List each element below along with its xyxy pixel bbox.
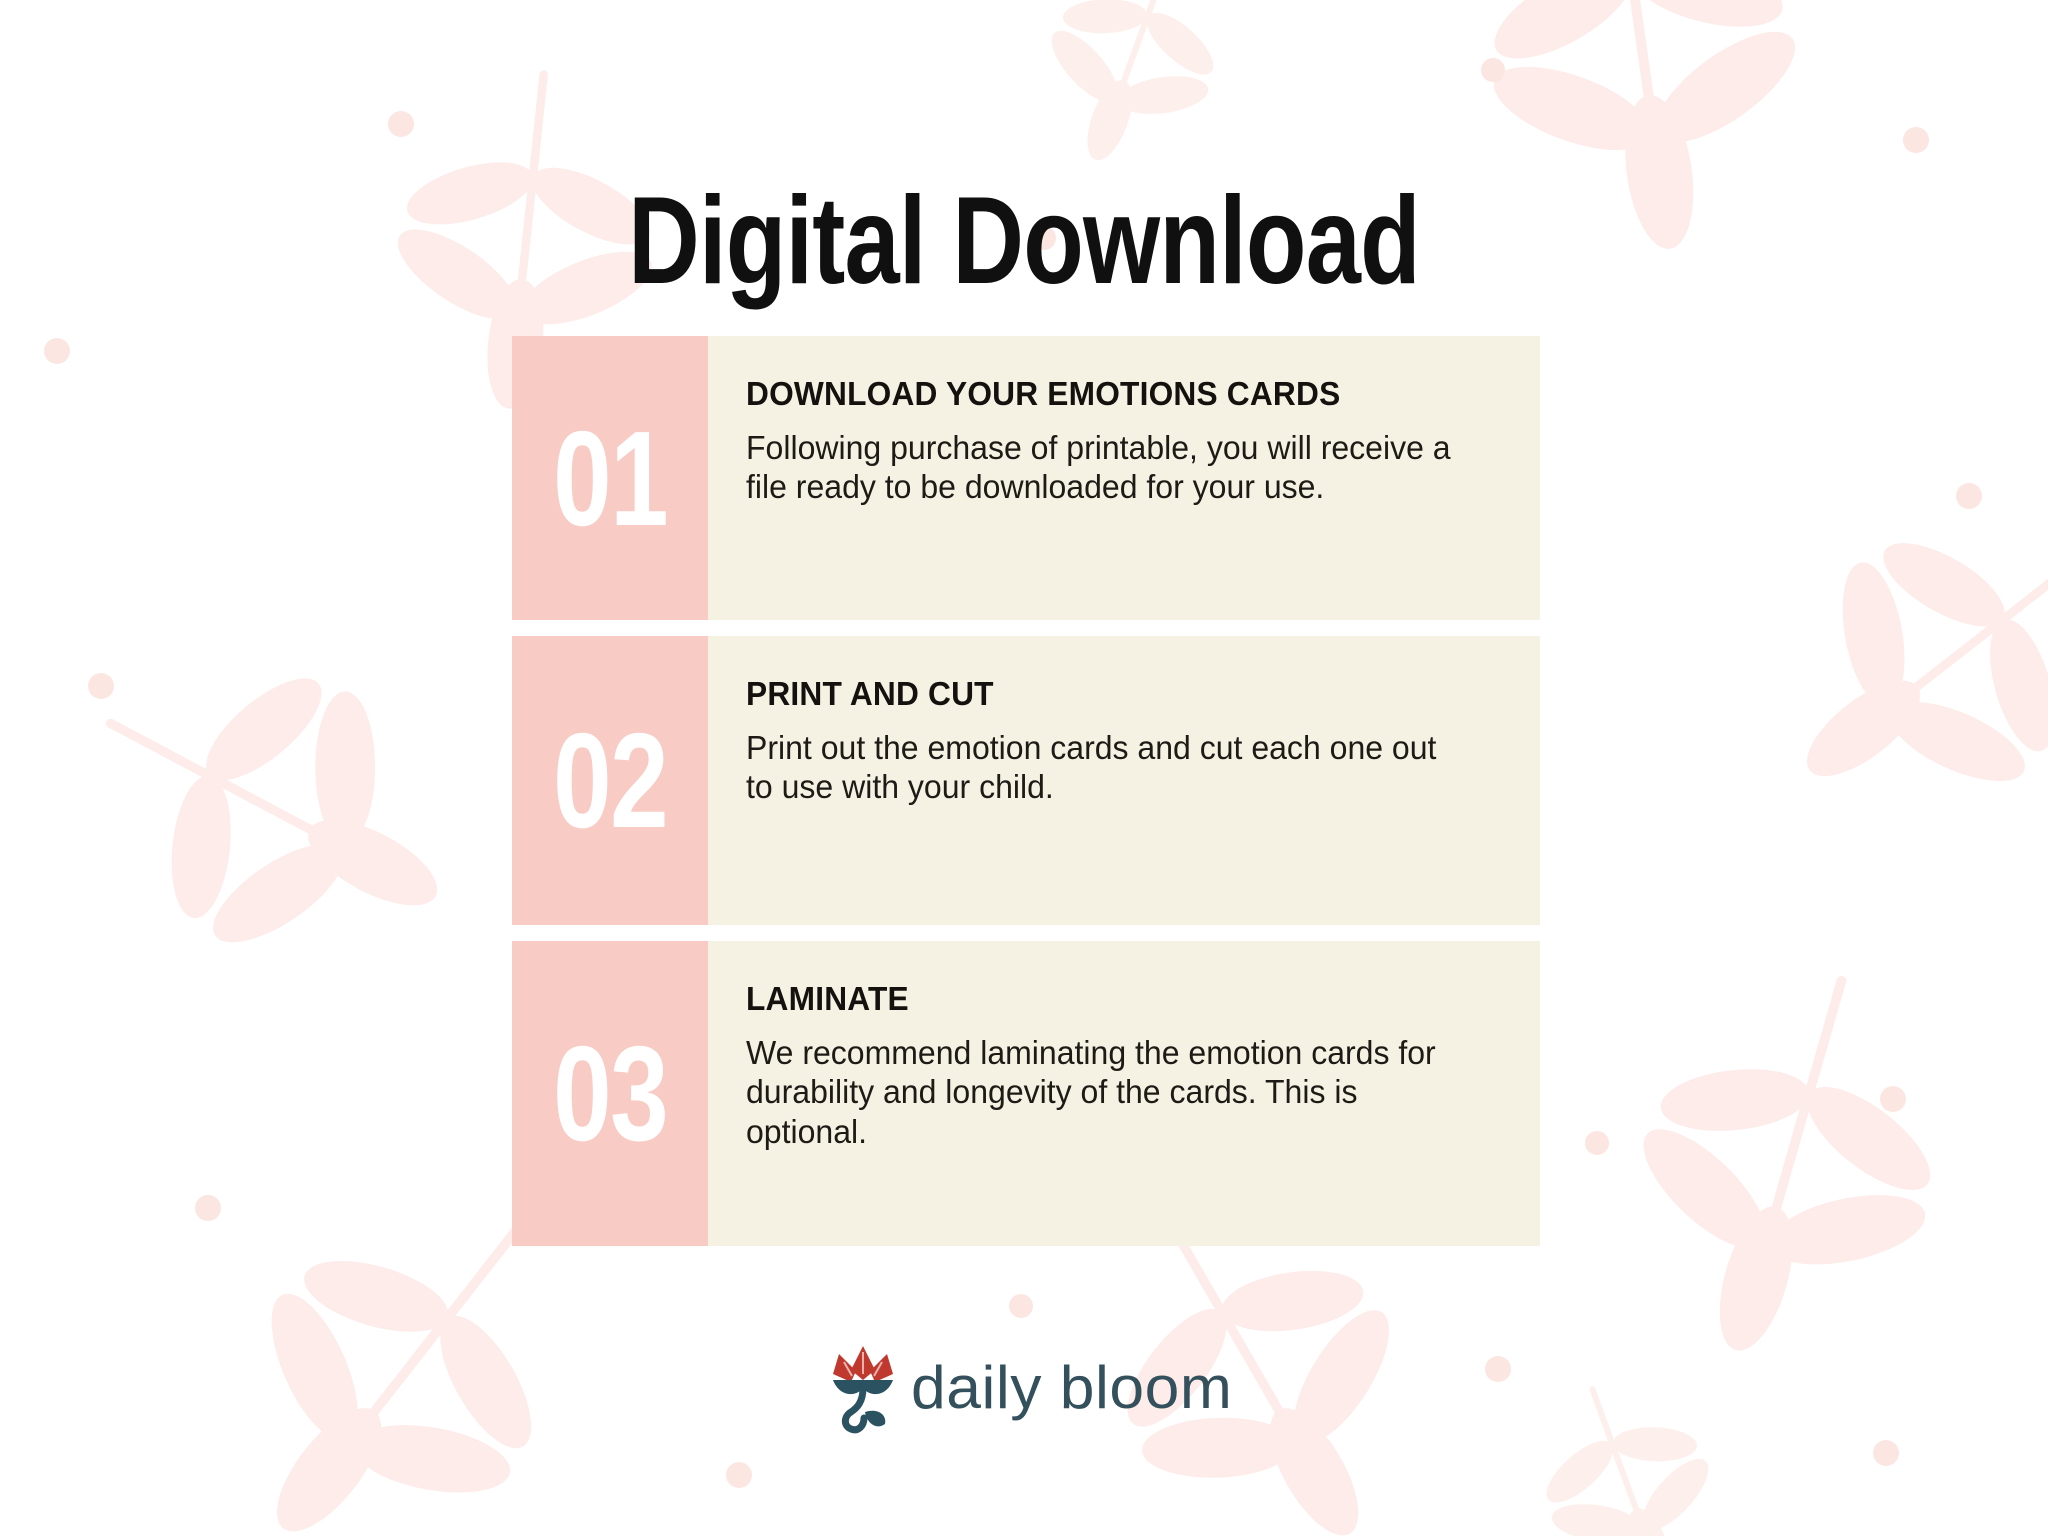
brand-name: daily bloom (911, 1358, 1232, 1418)
list-item: 02 PRINT AND CUT Print out the emotion c… (512, 636, 1540, 925)
steps-list: 01 DOWNLOAD YOUR EMOTIONS CARDS Followin… (512, 336, 1540, 1246)
step-number: 02 (553, 713, 667, 848)
step-number: 01 (553, 411, 667, 546)
tulip-flower-icon (829, 1340, 897, 1436)
poster-canvas: Digital Download 01 DOWNLOAD YOUR EMOTIO… (0, 0, 2048, 1536)
step-heading: PRINT AND CUT (746, 674, 1453, 714)
step-number-badge: 01 (512, 336, 708, 620)
page-title: Digital Download (205, 179, 1843, 303)
step-number: 03 (553, 1026, 667, 1161)
step-content: DOWNLOAD YOUR EMOTIONS CARDS Following p… (708, 336, 1540, 620)
list-item: 01 DOWNLOAD YOUR EMOTIONS CARDS Followin… (512, 336, 1540, 620)
step-description: We recommend laminating the emotion card… (746, 1033, 1460, 1152)
step-heading: DOWNLOAD YOUR EMOTIONS CARDS (746, 374, 1453, 414)
step-number-badge: 03 (512, 941, 708, 1246)
step-description: Print out the emotion cards and cut each… (746, 728, 1460, 807)
step-description: Following purchase of printable, you wil… (746, 428, 1460, 507)
step-content: PRINT AND CUT Print out the emotion card… (708, 636, 1540, 925)
step-heading: LAMINATE (746, 979, 1453, 1019)
step-content: LAMINATE We recommend laminating the emo… (708, 941, 1540, 1246)
list-item: 03 LAMINATE We recommend laminating the … (512, 941, 1540, 1246)
step-number-badge: 02 (512, 636, 708, 925)
brand-logo: daily bloom (0, 1340, 2048, 1436)
